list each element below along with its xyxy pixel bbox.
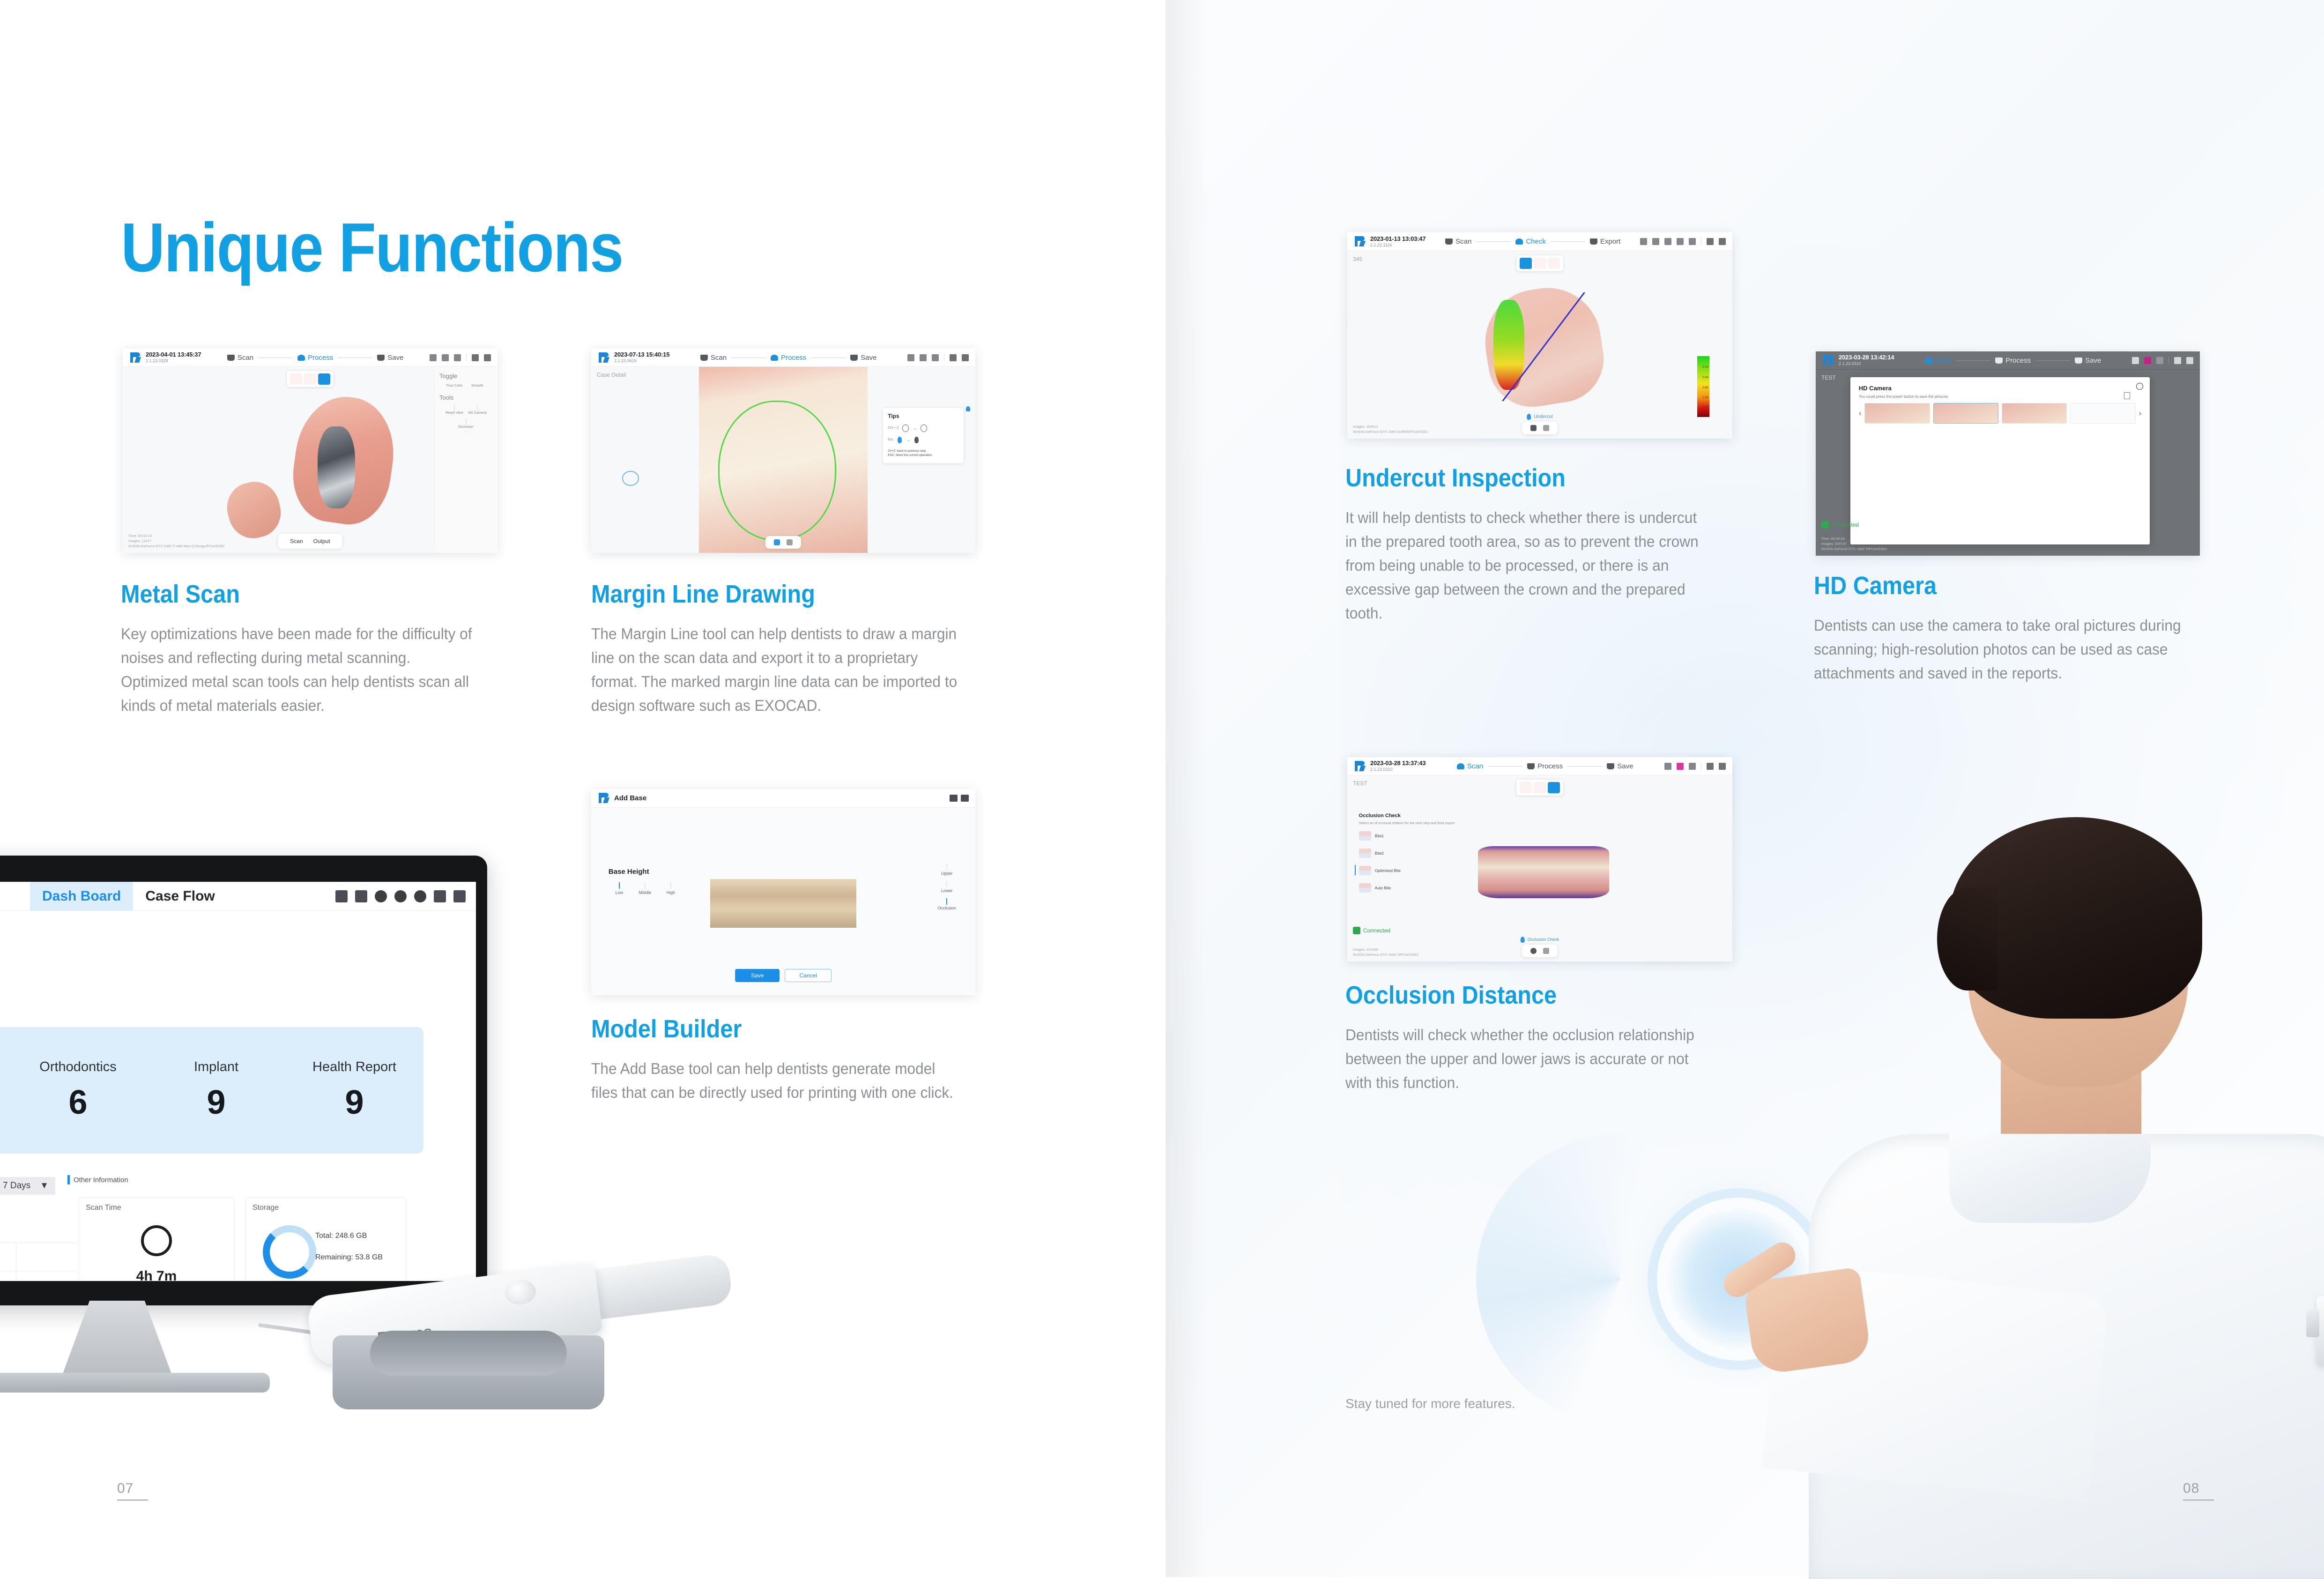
save-icon: [377, 355, 385, 361]
card-scan-time: Scan Time 4h 7m: [79, 1198, 234, 1281]
margin-tool-icon[interactable]: [774, 539, 780, 545]
bite-option-bite1[interactable]: Bite1: [1359, 831, 1455, 841]
feature-title: Occlusion Distance: [1345, 982, 1683, 1009]
workflow-steps: Scan Process Save: [669, 354, 907, 362]
tool-label: True Color: [445, 383, 464, 387]
occlusion-jaw-icon: [946, 898, 947, 905]
feature-body: Dentists can use the camera to take oral…: [1814, 613, 2183, 685]
metal-crowns-3d: [318, 426, 355, 508]
status-time: Time: 00:02:18: [128, 534, 225, 539]
app-toolbar: 2023-03-28 13:37:43 2.1.23.0310 Scan Pro…: [1347, 757, 1732, 775]
scan-icon: [1445, 238, 1453, 245]
step-save-label: Save: [387, 354, 403, 362]
occlusion-toggle[interactable]: [1548, 258, 1560, 269]
device-icon[interactable]: [1640, 238, 1647, 245]
tools-section-label: Tools: [434, 394, 497, 401]
status-images: Images: 303412: [1353, 425, 1428, 430]
device-connected-icon: [1821, 521, 1829, 529]
scanner-cradle: [333, 1335, 604, 1409]
stat-label: Health Report: [285, 1059, 423, 1075]
intraoral-scanner: Runyes FOCUS ON DENTAL: [262, 1260, 778, 1415]
dashboard-stat-band: Restoration 15 Orthodontics 6 Implant 9 …: [0, 1027, 423, 1154]
step-save-label: Save: [861, 354, 876, 362]
desktop-computer: Dash Board Case Flow Restoration 15: [0, 856, 487, 1305]
status-gpu: NVIDIA GeForce GTX 1660 Ti/PCIe/SSE2: [1353, 953, 1418, 958]
gear-icon[interactable]: [1689, 763, 1696, 770]
step-save[interactable]: Save: [850, 354, 876, 362]
tab-case-flow[interactable]: Case Flow: [133, 882, 227, 911]
card-value: 4h 7m: [79, 1268, 234, 1281]
insertion-axis-arrow: [1470, 292, 1617, 401]
step-export[interactable]: Export: [1590, 238, 1620, 246]
check-icon: [1515, 238, 1523, 245]
connection-status: Connected: [1353, 927, 1390, 934]
step-scan[interactable]: Scan: [1925, 357, 1951, 365]
toolbar-separator: [466, 354, 467, 361]
dashboard-toolbar-icons: [335, 890, 476, 902]
photo-thumbnail[interactable]: [2002, 403, 2067, 424]
upper-jaw-toggle[interactable]: [1520, 258, 1532, 269]
lower-jaw-toggle[interactable]: [1534, 258, 1546, 269]
clock-icon: [141, 1225, 172, 1256]
scan-button[interactable]: Scan: [290, 538, 303, 544]
status-bar: Images: 321400 NVIDIA GeForce GTX 1660 T…: [1353, 947, 1418, 958]
occlusion-tool-button[interactable]: [1530, 948, 1537, 954]
model-preview-3d[interactable]: [710, 879, 856, 928]
upper-jaw-icon: [946, 864, 947, 870]
page-number-right: 08: [2183, 1481, 2214, 1501]
device-icon[interactable]: [2132, 357, 2139, 364]
process-icon: [297, 355, 305, 361]
scan-icon: [227, 355, 235, 361]
step-process[interactable]: Process: [1995, 357, 2031, 365]
photo-thumbnail-strip[interactable]: ‹ ›: [1859, 403, 2142, 424]
arch-model-3d-secondary: [222, 477, 286, 544]
target-icon[interactable]: [932, 354, 939, 361]
tool-hd-camera[interactable]: HD Camera: [468, 405, 487, 415]
cancel-button[interactable]: Cancel: [785, 969, 832, 982]
save-button[interactable]: Save: [735, 969, 780, 982]
runyes-logo-icon: [1354, 235, 1366, 247]
toolbar-separator: [1701, 238, 1701, 245]
process-icon: [1995, 358, 2003, 364]
feature-title: Margin Line Drawing: [591, 581, 937, 608]
stat-label: Orthodontics: [9, 1059, 147, 1075]
toggle-section-label: Toggle: [434, 372, 497, 380]
step-divider: [1956, 360, 1990, 361]
workflow-steps: Scan Process Save: [1894, 357, 2132, 365]
version-value: 2.1.23.0310: [1370, 767, 1426, 772]
upper-jaw-toggle[interactable]: [1520, 782, 1532, 793]
camera-active-icon[interactable]: [1677, 763, 1684, 770]
scan-icon: [1925, 358, 1932, 364]
bite-option-auto[interactable]: Auto Bite: [1359, 883, 1455, 893]
feature-hd-camera: HD Camera Dentists can use the camera to…: [1814, 573, 2198, 685]
step-divider: [1476, 241, 1511, 242]
viewport[interactable]: Case Detail Tips Ctrl + Z → Esc → Crl+Z:…: [591, 367, 975, 553]
save-icon: [2075, 358, 2082, 364]
step-scan-label: Scan: [238, 354, 253, 362]
active-tool-label: Occlusion Check: [1521, 937, 1559, 943]
occlusion-model-3d[interactable]: [1478, 846, 1609, 898]
help-icon[interactable]: [1664, 238, 1671, 245]
import-icon[interactable]: [335, 890, 348, 902]
bite-option-bite2[interactable]: Bite2: [1359, 849, 1455, 858]
process-icon: [771, 355, 778, 361]
bottom-action-bar[interactable]: [765, 536, 801, 549]
photo-thumbnail-empty[interactable]: [2070, 403, 2135, 424]
base-height-high[interactable]: High: [660, 883, 682, 895]
power-button-icon[interactable]: [2136, 383, 2143, 390]
app-toolbar: 2023-07-13 15:40:15 2.1.23.0619 Scan Pro…: [591, 349, 975, 367]
exit-tool-button[interactable]: [1543, 948, 1549, 954]
feature-title: Undercut Inspection: [1345, 465, 1683, 492]
page-title: Unique Functions: [121, 213, 623, 283]
hd-camera-icon: [477, 404, 478, 411]
screenshot-add-base[interactable]: Add Base Base Height Low Middle High Upp…: [591, 789, 975, 995]
version-value: 2.1.23.0310: [1839, 361, 1894, 366]
status-bar: Images: 303412 NVIDIA GeForce GTX 1660 S…: [1353, 425, 1428, 435]
toolbar-actions: [430, 354, 491, 361]
connection-status-text: Connected: [1832, 521, 1859, 528]
gear-icon[interactable]: [394, 890, 407, 902]
step-scan[interactable]: Scan: [227, 354, 253, 362]
tool-occlusion[interactable]: Occlusion ...: [457, 419, 475, 433]
option-label: Middle: [634, 890, 656, 895]
step-check[interactable]: Check: [1515, 238, 1546, 246]
option-label: Upper: [937, 871, 956, 876]
jaw-toggle-group[interactable]: [1516, 780, 1563, 796]
active-tool-label: Undercut: [1527, 414, 1553, 420]
wall-mounted-device: [2317, 1296, 2324, 1366]
mini-arch-indicator: [622, 471, 639, 486]
other-information-label: Other Information: [67, 1175, 128, 1184]
scale-tick: -1.00: [1702, 406, 1708, 409]
step-scan[interactable]: Scan: [1445, 238, 1471, 246]
feature-body: Dentists will check whether the occlusio…: [1345, 1023, 1705, 1095]
screenshot-metal-scan[interactable]: 2023-04-01 13:45:37 2.1.23.0328 Scan Pro…: [123, 349, 497, 553]
timestamp-value: 2023-03-28 13:37:43: [1370, 760, 1426, 767]
scale-tick: -0.60: [1702, 387, 1708, 389]
step-divider: [1488, 766, 1522, 767]
version-value: 2.1.23.0328: [146, 358, 201, 363]
bite2-icon: [1359, 849, 1371, 858]
tips-line-2: ESC: Abort the current operation.: [888, 453, 959, 458]
minimize-icon[interactable]: [950, 354, 957, 361]
step-process-label: Process: [1537, 762, 1563, 770]
stat-restoration: Restoration 15: [0, 1059, 9, 1122]
status-gpu: NVIDIA GeForce GTX 1660 SUPER/PCIe/SSE2: [1353, 430, 1428, 435]
screenshot-hd-camera[interactable]: 2023-03-28 13:42:14 2.1.23.0310 Scan Pro…: [1816, 351, 2200, 556]
step-scan-label: Scan: [1935, 357, 1951, 365]
prev-arrow-icon[interactable]: ‹: [1859, 409, 1862, 418]
viewport[interactable]: Base Height Low Middle High Upper Lower …: [591, 808, 975, 995]
scale-tick: -0.40: [1702, 376, 1708, 379]
gear-icon[interactable]: [454, 354, 461, 361]
runyes-logo-icon: [129, 351, 141, 364]
reset-view-icon: [454, 404, 455, 411]
range-select-value: 7 Days: [3, 1181, 30, 1191]
save-icon: [1607, 763, 1614, 769]
lower-jaw-toggle[interactable]: [304, 373, 316, 385]
option-label: High: [660, 890, 682, 895]
tool-true-color[interactable]: True Color: [445, 383, 464, 387]
close-icon[interactable]: [453, 890, 466, 902]
tips-title: Tips: [888, 413, 959, 419]
feature-model-builder: Model Builder The Add Base tool can help…: [591, 1016, 975, 1104]
minimize-icon[interactable]: [2174, 357, 2181, 364]
gear-icon[interactable]: [1689, 238, 1696, 245]
option-label: Auto Bite: [1375, 886, 1391, 890]
gallery-icon[interactable]: [1652, 238, 1659, 245]
card-label: Scan Time: [86, 1204, 121, 1212]
output-button[interactable]: Output: [313, 538, 330, 544]
gear-icon[interactable]: [2156, 357, 2163, 364]
tool-reset-view[interactable]: Reset View: [445, 405, 464, 415]
monitor-bezel: Dash Board Case Flow Restoration 15: [0, 856, 487, 1305]
step-check-label: Check: [1526, 238, 1546, 246]
step-save[interactable]: Save: [377, 354, 403, 362]
step-process[interactable]: Process: [1527, 762, 1563, 770]
photo-thumbnail[interactable]: [1933, 403, 1998, 424]
auto-bite-icon: [1359, 883, 1371, 893]
status-gpu: NVIDIA GeForce GTX 1660 Ti with Max-Q De…: [128, 544, 225, 549]
tool-label-text: Undercut: [1534, 414, 1553, 419]
lightbulb-icon[interactable]: [966, 406, 970, 411]
app-toolbar: 2023-03-28 13:42:14 2.1.23.0310 Scan Pro…: [1816, 351, 2200, 370]
gallery-icon[interactable]: [442, 354, 449, 361]
base-height-low[interactable]: Low: [609, 883, 630, 895]
stat-orthodontics: Orthodontics 6: [9, 1059, 147, 1122]
tips-line-1: Crl+Z: back to previous step.: [888, 449, 959, 454]
right-tool-panel[interactable]: Toggle True Color Smooth Tools Reset Vie…: [434, 367, 497, 553]
timestamp-value: 2023-04-01 13:45:37: [146, 351, 201, 358]
lower-jaw-toggle[interactable]: [1534, 782, 1546, 793]
dialog-title: Add Base: [614, 794, 646, 802]
timestamp-value: 2023-07-13 15:40:15: [614, 351, 669, 358]
screenshot-undercut[interactable]: 2023-01-13 13:03:47 2.1.22.1116 Scan Che…: [1347, 232, 1732, 439]
chart-gridlines: [0, 1243, 77, 1281]
next-arrow-icon[interactable]: ›: [2139, 409, 2142, 418]
exit-tool-button[interactable]: [1543, 425, 1549, 431]
bite-option-optimized[interactable]: Optimized Bite: [1359, 866, 1455, 875]
feature-margin-line: Margin Line Drawing The Margin Line tool…: [591, 581, 975, 717]
step-process-label: Process: [781, 354, 806, 362]
toggle-items: True Color Smooth: [434, 383, 497, 387]
toolbar-actions: [1664, 762, 1726, 770]
step-divider: [2035, 360, 2070, 361]
workflow-steps: Scan Check Export: [1426, 238, 1640, 246]
upper-jaw-toggle[interactable]: [290, 373, 302, 385]
undercut-tool-icon: [1527, 414, 1531, 420]
tool-label: Occlusion ...: [457, 425, 475, 433]
app-toolbar: 2023-04-01 13:45:37 2.1.23.0328 Scan Pro…: [123, 349, 497, 367]
dashboard-screen[interactable]: Dash Board Case Flow Restoration 15: [0, 882, 476, 1281]
app-timestamp: 2023-03-28 13:37:43 2.1.23.0310: [1370, 760, 1426, 772]
hair: [1949, 817, 2202, 1019]
lower-jaw-icon: [946, 881, 947, 887]
stat-health-report: Health Report 9: [285, 1059, 423, 1122]
window-controls: [950, 795, 969, 802]
occlusion-toggle[interactable]: [1548, 782, 1560, 793]
modal-hint: You could press the power button to save…: [1859, 395, 2142, 399]
base-height-middle[interactable]: Middle: [634, 883, 656, 895]
stat-value: 9: [147, 1083, 285, 1122]
step-divider: [1551, 241, 1585, 242]
step-process[interactable]: Process: [771, 354, 806, 362]
exit-tool-icon[interactable]: [787, 539, 793, 545]
minimize-icon[interactable]: [950, 795, 958, 802]
undercut-tool-button[interactable]: [1530, 425, 1537, 431]
view-selector[interactable]: Upper Lower Occlusion: [937, 864, 956, 916]
step-scan-label: Scan: [1467, 762, 1483, 770]
dashboard-tabs[interactable]: Dash Board Case Flow: [0, 882, 476, 911]
viewport[interactable]: 345 -0.20 -0.40 -0.60 -0.80 -1.00 Underc…: [1347, 251, 1732, 439]
toolbar-separator: [2168, 357, 2169, 364]
close-icon[interactable]: [962, 354, 969, 361]
runyes-logo-icon: [1822, 354, 1834, 366]
app-timestamp: 2023-01-13 13:03:47 2.1.22.1116: [1370, 236, 1426, 247]
modal-title: HD Camera: [1859, 385, 2142, 392]
share-icon[interactable]: [1677, 238, 1684, 245]
toolbar-actions: [907, 354, 969, 361]
occlusion-toggle[interactable]: [318, 373, 330, 385]
status-images: Images: 321400: [1353, 947, 1418, 953]
gallery-icon[interactable]: [920, 354, 927, 361]
stat-label: Restoration: [0, 1059, 9, 1075]
viewport[interactable]: TEST Occlusion Check Select on of occlus…: [1347, 775, 1732, 961]
close-icon[interactable]: [2186, 357, 2193, 364]
tool-label: Reset View: [445, 410, 464, 415]
chevron-down-icon: ▼: [40, 1181, 49, 1191]
tool-smooth[interactable]: Smooth: [468, 383, 487, 387]
margin-line-curve: [718, 401, 836, 541]
occlusion-tool-icon: [1521, 937, 1525, 943]
tool-label: Smooth: [468, 383, 487, 387]
runyes-logo-icon: [1354, 760, 1366, 772]
workflow-steps: Scan Process Save: [201, 354, 430, 362]
option-label: Bite2: [1375, 851, 1384, 856]
status-bar: Time: 00:02:18 Images: 11477 NVIDIA GeFo…: [128, 534, 225, 549]
workflow-steps: Scan Process Save: [1426, 762, 1664, 770]
case-label: TEST: [1353, 780, 1367, 787]
viewport[interactable]: Toggle True Color Smooth Tools Reset Vie…: [123, 367, 497, 553]
step-scan[interactable]: Scan: [700, 354, 727, 362]
avatar-icon[interactable]: [414, 890, 426, 902]
step-process-label: Process: [2005, 357, 2031, 365]
stay-tuned-note: Stay tuned for more features.: [1345, 1396, 1515, 1411]
option-label: Optimized Bite: [1375, 868, 1401, 873]
occlusion-check-panel[interactable]: Occlusion Check Select on of occlusal re…: [1359, 813, 1455, 901]
jaw-toggle-group[interactable]: [287, 371, 334, 387]
bottom-action-bar[interactable]: Scan Output: [278, 534, 342, 549]
view-lower[interactable]: Lower: [937, 881, 956, 893]
viewport[interactable]: TEST HD Camera You could press the power…: [1816, 370, 2200, 556]
tips-key-esc: Esc: [888, 438, 893, 441]
minimize-icon[interactable]: [472, 354, 479, 361]
range-select[interactable]: 7 Days ▼: [0, 1177, 55, 1195]
app-timestamp: 2023-03-28 13:42:14 2.1.23.0310: [1839, 354, 1894, 366]
toolbar-separator: [944, 354, 944, 361]
feature-body: The Margin Line tool can help dentists t…: [591, 622, 960, 718]
option-label: Low: [609, 890, 630, 895]
runyes-logo-icon: [598, 792, 610, 804]
help-icon[interactable]: [375, 890, 387, 902]
case-label: Case Detail: [597, 372, 626, 378]
step-save[interactable]: Save: [1607, 762, 1633, 770]
stat-label: Implant: [147, 1059, 285, 1075]
optimized-bite-icon: [1359, 866, 1371, 875]
device-icon[interactable]: [1664, 763, 1671, 770]
connection-status: Connected: [1821, 521, 1859, 529]
stat-value: 6: [9, 1083, 147, 1122]
page-number-left: 07: [117, 1481, 148, 1501]
undo-shape-icon: [902, 425, 909, 432]
step-process[interactable]: Process: [297, 354, 333, 362]
bottom-action-bar[interactable]: [1522, 945, 1558, 957]
stat-value: 9: [285, 1083, 423, 1122]
step-scan[interactable]: Scan: [1457, 762, 1483, 770]
device-icon[interactable]: [430, 354, 437, 361]
feature-undercut: Undercut Inspection It will help dentist…: [1345, 465, 1720, 625]
scan-icon: [1457, 763, 1464, 769]
option-label: Bite1: [1375, 834, 1384, 838]
tab-dash-board[interactable]: Dash Board: [30, 882, 133, 911]
step-save[interactable]: Save: [2075, 357, 2101, 365]
view-upper[interactable]: Upper: [937, 864, 956, 876]
app-timestamp: 2023-07-13 15:40:15 2.1.23.0619: [614, 351, 669, 363]
toolbar-actions: [2132, 357, 2193, 364]
dialog-buttons[interactable]: Save Cancel: [735, 969, 832, 982]
minimize-icon[interactable]: [434, 890, 446, 902]
storage-total: Total: 248.6 GB: [315, 1232, 367, 1240]
status-time: Time: 00:00:14: [1821, 536, 1887, 542]
undercut-color-scale: -0.20 -0.40 -0.60 -0.80 -1.00: [1697, 356, 1709, 417]
bottom-action-bar[interactable]: [1522, 422, 1558, 434]
photo-thumbnail[interactable]: [1864, 403, 1930, 424]
tool-label-text: Occlusion Check: [1528, 937, 1559, 942]
screenshot-margin-line[interactable]: 2023-07-13 15:40:15 2.1.23.0619 Scan Pro…: [591, 349, 975, 553]
camera-active-icon[interactable]: [2144, 357, 2151, 364]
step-export-label: Export: [1600, 238, 1620, 246]
device-icon[interactable]: [907, 354, 914, 361]
timestamp-value: 2023-03-28 13:42:14: [1839, 354, 1894, 361]
minimize-icon[interactable]: [1707, 238, 1714, 245]
close-icon[interactable]: [1719, 763, 1726, 770]
runyes-logo-icon: [598, 351, 610, 364]
version-value: 2.1.23.0619: [614, 358, 669, 363]
close-icon[interactable]: [961, 795, 969, 802]
minimize-icon[interactable]: [1707, 763, 1714, 770]
base-height-options[interactable]: Low Middle High: [609, 883, 682, 895]
share-icon[interactable]: [355, 890, 367, 902]
save-icon: [850, 355, 858, 361]
timestamp-value: 2023-01-13 13:03:47: [1370, 236, 1426, 243]
card-label: Storage: [252, 1204, 279, 1212]
step-save-label: Save: [2085, 357, 2101, 365]
jaw-toggle-group[interactable]: [1516, 255, 1563, 271]
close-icon[interactable]: [484, 354, 491, 361]
tips-key-ctrlz: Ctrl + Z: [888, 426, 898, 430]
bite1-icon: [1359, 831, 1371, 841]
occlusion-icon: [466, 418, 467, 425]
base-high-icon: [670, 882, 671, 889]
screenshot-occlusion[interactable]: 2023-03-28 13:37:43 2.1.23.0310 Scan Pro…: [1347, 757, 1732, 961]
delete-icon[interactable]: [2124, 392, 2130, 399]
close-icon[interactable]: [1719, 238, 1726, 245]
hd-camera-modal[interactable]: HD Camera You could press the power butt…: [1850, 377, 2150, 544]
view-occlusion[interactable]: Occlusion: [937, 899, 956, 910]
